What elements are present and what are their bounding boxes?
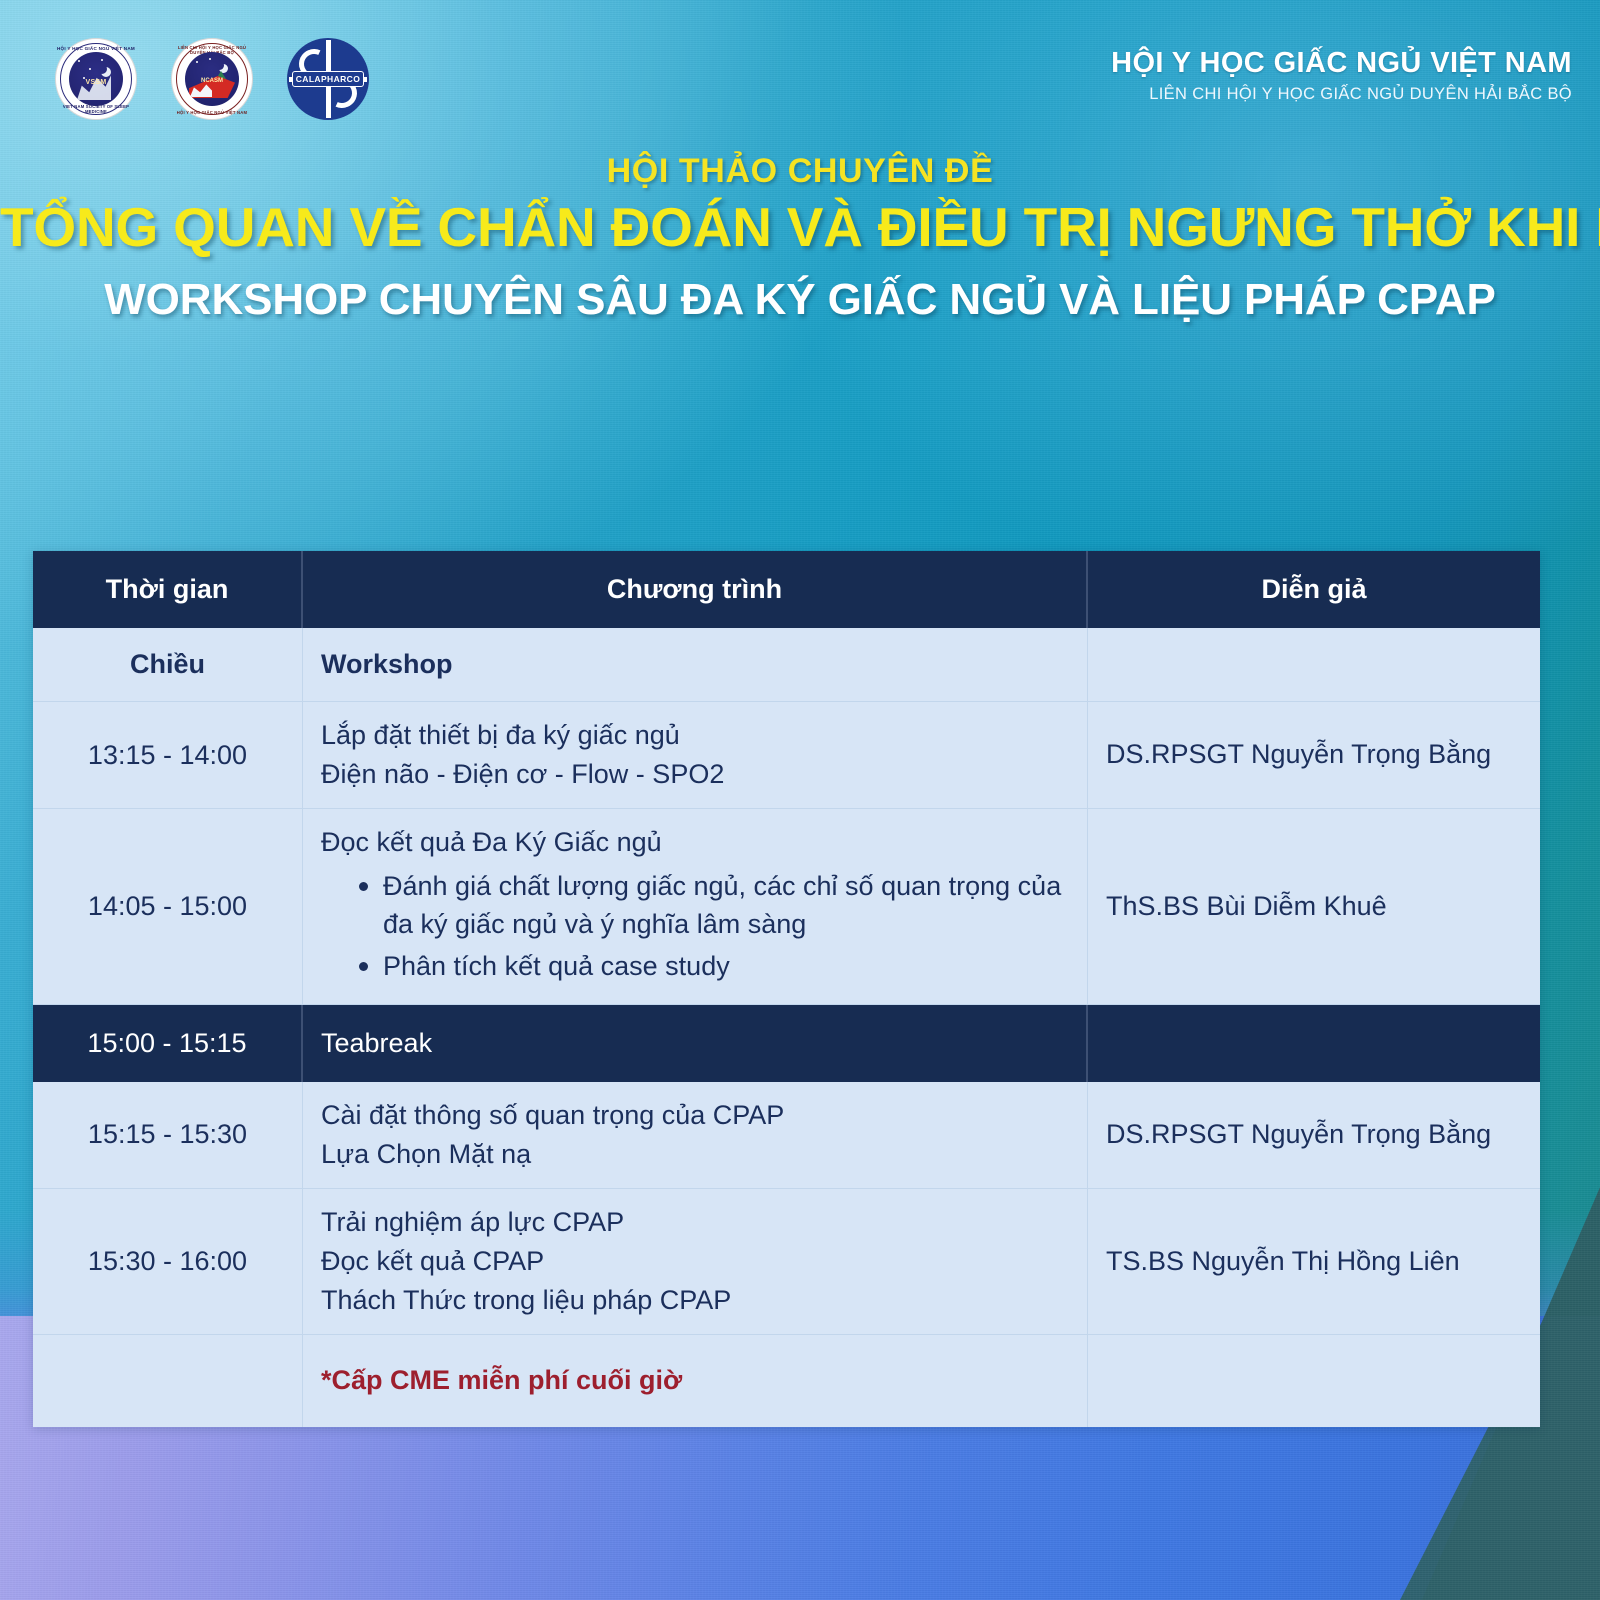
- poster-header: HỘI Y HỌC GIẤC NGỦ VIỆT NAM VSSM VIET NA…: [0, 0, 1600, 140]
- agenda-cell-time: 15:15 - 15:30: [33, 1082, 303, 1188]
- agenda-bullet-item: Phân tích kết quả case study: [355, 947, 1069, 985]
- ncasm-logo-label: NCASM: [185, 78, 239, 84]
- title-block: HỘI THẢO CHUYÊN ĐỀ TỔNG QUAN VỀ CHẨN ĐOÁ…: [0, 152, 1600, 325]
- agenda-bullet-item: Đánh giá chất lượng giấc ngủ, các chỉ số…: [355, 867, 1069, 944]
- star-icon: [196, 61, 198, 63]
- agenda-program-line: *Cấp CME miễn phí cuối giờ: [321, 1361, 1069, 1400]
- ncasm-logo: LIÊN CHI HỘI Y HỌC GIẤC NGỦ DUYÊN HẢI BẮ…: [171, 38, 253, 120]
- agenda-program-line: Workshop: [321, 645, 1069, 684]
- vssm-logo: HỘI Y HỌC GIẤC NGỦ VIỆT NAM VSSM VIET NA…: [55, 38, 137, 120]
- calapharco-logo-label: CALAPHARCO: [292, 71, 364, 87]
- column-header-speaker: Diễn giả: [1088, 551, 1540, 628]
- agenda-program-lines: Trải nghiệm áp lực CPAPĐọc kết quả CPAPT…: [321, 1203, 1069, 1320]
- column-header-program: Chương trình: [303, 551, 1088, 628]
- agenda-cell-time: 15:00 - 15:15: [33, 1005, 303, 1082]
- agenda-program-line: Teabreak: [321, 1024, 1068, 1063]
- agenda-cell-time: 13:15 - 14:00: [33, 702, 303, 808]
- agenda-program-lines: Workshop: [321, 645, 1069, 684]
- agenda-cell-time: 15:30 - 16:00: [33, 1189, 303, 1334]
- star-icon: [78, 60, 80, 62]
- agenda-cell-speaker: [1088, 628, 1540, 701]
- agenda-cell-program: Workshop: [303, 628, 1088, 701]
- column-header-time: Thời gian: [33, 551, 303, 628]
- agenda-cell-speaker: [1088, 1335, 1540, 1426]
- agenda-table: Thời gian Chương trình Diễn giả ChiềuWor…: [33, 551, 1540, 1427]
- agenda-program-line: Đọc kết quả Đa Ký Giấc ngủ: [321, 823, 1069, 862]
- moon-icon: [97, 64, 107, 74]
- organization-block: HỘI Y HỌC GIẤC NGỦ VIỆT NAM LIÊN CHI HỘI…: [1111, 48, 1572, 104]
- agenda-row: 15:30 - 16:00Trải nghiệm áp lực CPAPĐọc …: [33, 1189, 1540, 1335]
- event-title: TỔNG QUAN VỀ CHẨN ĐOÁN VÀ ĐIỀU TRỊ NGƯNG…: [0, 197, 1600, 259]
- agenda-cell-speaker: [1088, 1005, 1540, 1082]
- star-icon: [209, 58, 211, 60]
- agenda-row: 14:05 - 15:00Đọc kết quả Đa Ký Giấc ngủĐ…: [33, 809, 1540, 1004]
- agenda-cell-time: [33, 1335, 303, 1426]
- agenda-program-line: Thách Thức trong liệu pháp CPAP: [321, 1281, 1069, 1320]
- moon-icon: [215, 61, 224, 70]
- agenda-program-line: Lắp đặt thiết bị đa ký giấc ngủ: [321, 716, 1069, 755]
- agenda-cell-speaker: DS.RPSGT Nguyễn Trọng Bằng: [1088, 1082, 1540, 1188]
- agenda-program-line: Đọc kết quả CPAP: [321, 1242, 1069, 1281]
- agenda-table-header-row: Thời gian Chương trình Diễn giả: [33, 551, 1540, 628]
- agenda-cell-speaker: DS.RPSGT Nguyễn Trọng Bằng: [1088, 702, 1540, 808]
- vssm-logo-arc-top: HỘI Y HỌC GIẤC NGỦ VIỆT NAM: [56, 46, 136, 51]
- event-kicker: HỘI THẢO CHUYÊN ĐỀ: [0, 152, 1600, 191]
- logo-group: HỘI Y HỌC GIẤC NGỦ VIỆT NAM VSSM VIET NA…: [55, 38, 369, 120]
- agenda-program-lines: Lắp đặt thiết bị đa ký giấc ngủĐiện não …: [321, 716, 1069, 794]
- agenda-cell-program: Trải nghiệm áp lực CPAPĐọc kết quả CPAPT…: [303, 1189, 1088, 1334]
- agenda-table-body: ChiềuWorkshop13:15 - 14:00Lắp đặt thiết …: [33, 628, 1540, 1427]
- star-icon: [101, 59, 103, 61]
- agenda-program-line: Cài đặt thông số quan trọng của CPAP: [321, 1096, 1069, 1135]
- calapharco-logo: CALAPHARCO: [287, 38, 369, 120]
- agenda-row: ChiềuWorkshop: [33, 628, 1540, 702]
- vssm-logo-label: VSSM: [69, 79, 123, 86]
- event-subtitle: WORKSHOP CHUYÊN SÂU ĐA KÝ GIẤC NGỦ VÀ LI…: [0, 275, 1600, 325]
- agenda-cell-program: Teabreak: [303, 1005, 1088, 1082]
- agenda-program-lines: Cài đặt thông số quan trọng của CPAPLựa …: [321, 1096, 1069, 1174]
- star-icon: [89, 68, 91, 70]
- ncasm-logo-arc-bottom: HỘI Y HỌC GIẤC NGỦ VIỆT NAM: [172, 110, 252, 115]
- agenda-row: 15:00 - 15:15Teabreak: [33, 1005, 1540, 1082]
- agenda-program-line: Điện não - Điện cơ - Flow - SPO2: [321, 755, 1069, 794]
- agenda-program-lines: Đọc kết quả Đa Ký Giấc ngủ: [321, 823, 1069, 862]
- agenda-program-lines: Teabreak: [321, 1024, 1068, 1063]
- ncasm-logo-core: NCASM: [185, 52, 239, 106]
- vssm-logo-core: VSSM: [69, 52, 123, 106]
- vssm-logo-arc-bottom: VIET NAM SOCIETY OF SLEEP MEDICINE: [56, 104, 136, 114]
- agenda-cell-speaker: ThS.BS Bùi Diễm Khuê: [1088, 809, 1540, 1003]
- agenda-program-line: Trải nghiệm áp lực CPAP: [321, 1203, 1069, 1242]
- agenda-row: 13:15 - 14:00Lắp đặt thiết bị đa ký giấc…: [33, 702, 1540, 809]
- agenda-bullet-list: Đánh giá chất lượng giấc ngủ, các chỉ số…: [355, 867, 1069, 986]
- agenda-cell-speaker: TS.BS Nguyễn Thị Hồng Liên: [1088, 1189, 1540, 1334]
- agenda-row: *Cấp CME miễn phí cuối giờ: [33, 1335, 1540, 1426]
- agenda-cell-program: *Cấp CME miễn phí cuối giờ: [303, 1335, 1088, 1426]
- agenda-row: 15:15 - 15:30Cài đặt thông số quan trọng…: [33, 1082, 1540, 1189]
- organization-subtitle: LIÊN CHI HỘI Y HỌC GIẤC NGỦ DUYÊN HẢI BẮ…: [1111, 85, 1572, 104]
- organization-name: HỘI Y HỌC GIẤC NGỦ VIỆT NAM: [1111, 48, 1572, 80]
- agenda-cell-program: Lắp đặt thiết bị đa ký giấc ngủĐiện não …: [303, 702, 1088, 808]
- agenda-cell-time: 14:05 - 15:00: [33, 809, 303, 1003]
- agenda-program-line: Lựa Chọn Mặt nạ: [321, 1135, 1069, 1174]
- agenda-cell-program: Cài đặt thông số quan trọng của CPAPLựa …: [303, 1082, 1088, 1188]
- agenda-program-lines: *Cấp CME miễn phí cuối giờ: [321, 1361, 1069, 1400]
- agenda-cell-time: Chiều: [33, 628, 303, 701]
- agenda-cell-program: Đọc kết quả Đa Ký Giấc ngủĐánh giá chất …: [303, 809, 1088, 1003]
